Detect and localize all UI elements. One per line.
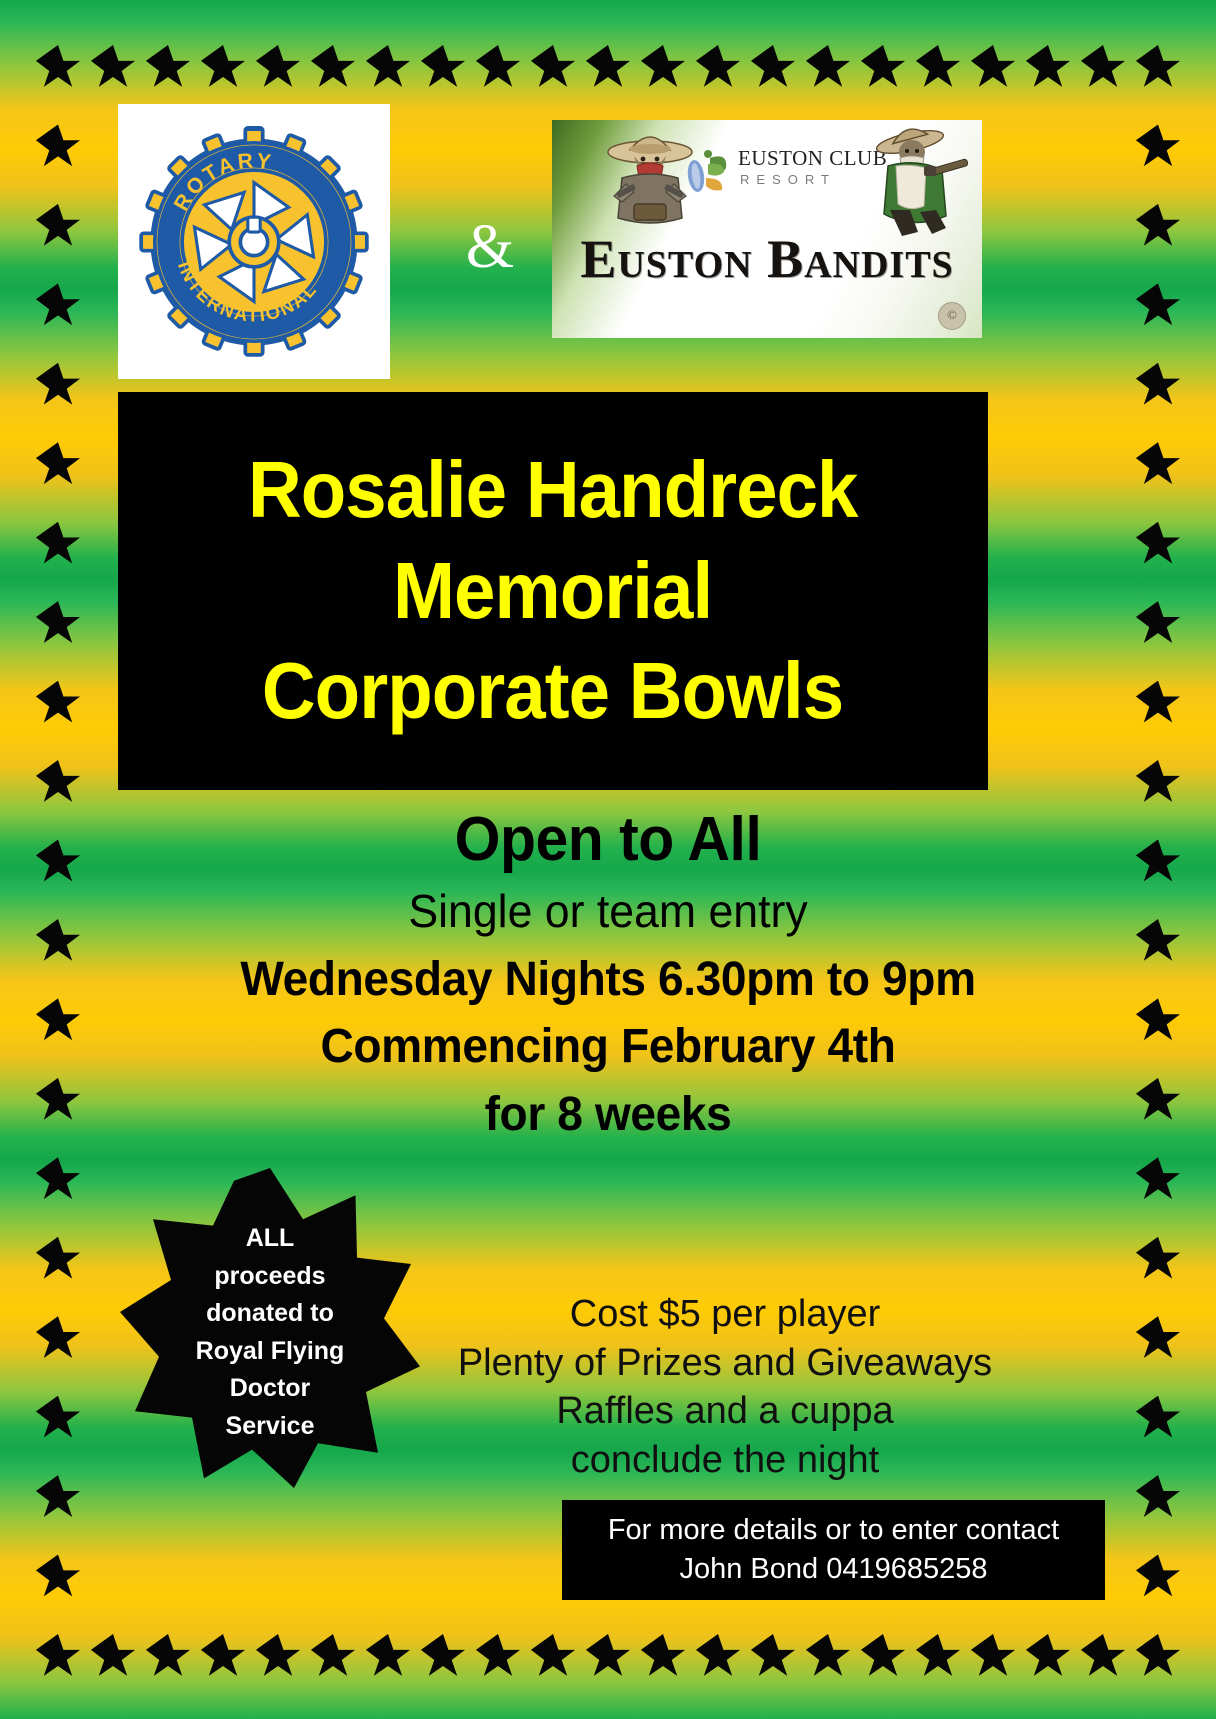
star-icon	[35, 601, 81, 647]
star-icon	[970, 45, 1016, 91]
star-icon	[310, 1634, 356, 1680]
event-body-copy: Open to All Single or team entry Wednesd…	[60, 805, 1156, 1143]
star-icon	[695, 45, 741, 91]
starburst-line-6: Service	[148, 1408, 392, 1446]
starburst-line-2: proceeds	[148, 1258, 392, 1296]
euston-bandits-wordmark: Euston Bandits	[552, 228, 982, 290]
star-icon	[585, 1634, 631, 1680]
star-icon	[915, 45, 961, 91]
title-line-2: Memorial	[393, 544, 712, 638]
star-icon	[310, 45, 356, 91]
cost-text: Cost $5 per player	[430, 1290, 1020, 1339]
star-icon	[35, 45, 81, 91]
star-icon	[640, 45, 686, 91]
star-icon	[145, 1634, 191, 1680]
rotary-international-gear-icon: ROTARY INTERNATIONAL	[130, 118, 378, 366]
star-icon	[145, 45, 191, 91]
charity-starburst-badge: ALL proceeds donated to Royal Flying Doc…	[120, 1168, 420, 1488]
euston-seal-icon: ©	[938, 302, 966, 330]
star-icon	[420, 45, 466, 91]
star-icon	[35, 1237, 81, 1283]
starburst-line-4: Royal Flying	[148, 1333, 392, 1371]
star-icon	[35, 760, 81, 806]
star-icon	[35, 522, 81, 568]
star-icon	[200, 1634, 246, 1680]
cowboy-bandit-icon	[866, 120, 970, 238]
ampersand-separator: &	[455, 216, 525, 278]
contact-info-box: For more details or to enter contact Joh…	[562, 1500, 1105, 1600]
contact-line-1: For more details or to enter contact	[608, 1511, 1059, 1550]
star-icon	[1025, 1634, 1071, 1680]
schedule-text: Wednesday Nights 6.30pm to 9pm	[82, 952, 1134, 1008]
star-icon	[475, 1634, 521, 1680]
star-icon	[640, 1634, 686, 1680]
open-to-all-heading: Open to All	[87, 805, 1128, 874]
title-line-1: Rosalie Handreck	[248, 443, 858, 537]
rotary-logo: ROTARY INTERNATIONAL	[118, 104, 390, 379]
star-icon	[530, 1634, 576, 1680]
star-icon	[1135, 442, 1181, 488]
star-icon	[35, 1634, 81, 1680]
star-icon	[1135, 1396, 1181, 1442]
euston-seal-glyph: ©	[939, 303, 965, 327]
star-icon	[35, 1475, 81, 1521]
duration-text: for 8 weeks	[82, 1087, 1134, 1143]
star-icon	[35, 1157, 81, 1203]
star-icon	[1080, 45, 1126, 91]
starburst-line-3: donated to	[148, 1295, 392, 1333]
euston-club-line2: RESORT	[740, 172, 836, 187]
star-icon	[1135, 681, 1181, 727]
star-icon	[420, 1634, 466, 1680]
leaf-logo-icon	[680, 146, 732, 196]
star-icon	[750, 45, 796, 91]
star-icon	[1135, 601, 1181, 647]
starburst-line-5: Doctor	[148, 1370, 392, 1408]
star-icon	[1135, 522, 1181, 568]
star-icon	[35, 442, 81, 488]
star-icon	[860, 1634, 906, 1680]
star-icon	[860, 45, 906, 91]
star-icon	[970, 1634, 1016, 1680]
starburst-line-1: ALL	[148, 1220, 392, 1258]
star-icon	[365, 1634, 411, 1680]
star-icon	[90, 1634, 136, 1680]
star-icon	[1025, 45, 1071, 91]
event-title-panel: Rosalie Handreck Memorial Corporate Bowl…	[118, 392, 988, 790]
prizes-text: Plenty of Prizes and Giveaways	[430, 1339, 1020, 1388]
star-icon	[1135, 1157, 1181, 1203]
contact-line-2: John Bond 0419685258	[679, 1550, 987, 1589]
star-icon	[1135, 1555, 1181, 1601]
star-icon	[1135, 1237, 1181, 1283]
star-icon	[915, 1634, 961, 1680]
star-icon	[1135, 760, 1181, 806]
euston-bandits-logo: EUSTON CLUB RESORT	[552, 120, 982, 338]
star-icon	[805, 1634, 851, 1680]
star-icon	[35, 681, 81, 727]
star-icon	[805, 45, 851, 91]
star-icon	[200, 45, 246, 91]
starburst-text: ALL proceeds donated to Royal Flying Doc…	[148, 1220, 392, 1445]
event-details-block: Cost $5 per player Plenty of Prizes and …	[430, 1290, 1020, 1485]
star-icon	[1135, 1634, 1181, 1680]
star-icon	[475, 45, 521, 91]
star-icon	[255, 1634, 301, 1680]
star-icon	[1135, 1316, 1181, 1362]
raffles-text: Raffles and a cuppa	[430, 1387, 1020, 1436]
star-icon	[695, 1634, 741, 1680]
star-icon	[35, 1555, 81, 1601]
star-icon	[255, 45, 301, 91]
event-poster: ROTARY INTERNATIONAL &	[0, 0, 1216, 1719]
star-icon	[35, 1316, 81, 1362]
entry-type-text: Single or team entry	[76, 884, 1139, 939]
star-icon	[1135, 1475, 1181, 1521]
star-icon	[365, 45, 411, 91]
star-icon	[750, 1634, 796, 1680]
conclude-text: conclude the night	[430, 1436, 1020, 1485]
star-icon	[585, 45, 631, 91]
star-icon	[35, 1396, 81, 1442]
title-line-3: Corporate Bowls	[262, 644, 843, 738]
euston-club-line1: EUSTON CLUB	[738, 146, 887, 171]
star-icon	[1135, 45, 1181, 91]
star-icon	[1080, 1634, 1126, 1680]
start-date-text: Commencing February 4th	[82, 1019, 1134, 1075]
star-icon	[90, 45, 136, 91]
header-logos-row: ROTARY INTERNATIONAL &	[0, 104, 1216, 404]
star-icon	[530, 45, 576, 91]
